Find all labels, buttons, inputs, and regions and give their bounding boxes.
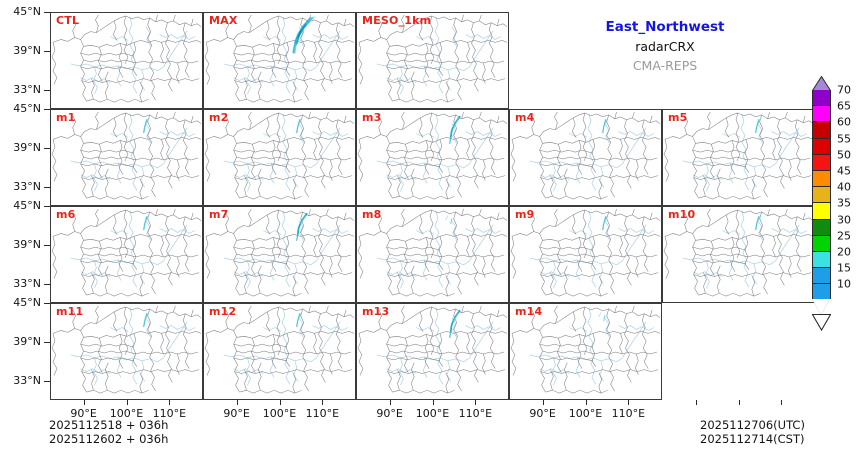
- colorbar-over-arrow: [812, 76, 830, 90]
- x-tick-label: 90°E: [223, 407, 249, 420]
- map-panel-meso_1km[interactable]: MESO_1km: [356, 12, 509, 109]
- colorbar-under-outline: [812, 314, 831, 331]
- colorbar-segment: 10: [813, 284, 830, 299]
- colorbar-over-outline: [812, 76, 831, 91]
- map-geography: [663, 207, 814, 302]
- x-tick-mark: [433, 400, 434, 405]
- y-tick-mark: [44, 381, 50, 382]
- map-panel-m7[interactable]: m7: [203, 206, 356, 303]
- radar-echo: [297, 312, 302, 327]
- panel-label: m10: [668, 209, 695, 221]
- x-tick-mark: [628, 400, 629, 405]
- radar-echo: [603, 118, 608, 133]
- colorbar-tick-label: 15: [837, 262, 851, 275]
- colorbar-segment: 25: [813, 236, 830, 252]
- y-tick-label: 39°N: [13, 141, 41, 154]
- colorbar-segment: 70: [813, 90, 830, 106]
- y-tick-mark: [44, 12, 50, 13]
- x-tick-mark: [280, 400, 281, 405]
- panel-label: MESO_1km: [362, 15, 431, 27]
- y-tick-mark: [44, 90, 50, 91]
- colorbar-segment: 35: [813, 203, 830, 219]
- y-tick-label: 39°N: [13, 238, 41, 251]
- y-tick-mark: [44, 284, 50, 285]
- panel-label: m5: [668, 112, 688, 124]
- panel-label: m1: [56, 112, 76, 124]
- x-tick-mark: [169, 400, 170, 405]
- map-geography: [357, 13, 508, 108]
- x-tick-mark: [390, 400, 391, 405]
- radar-echo: [144, 312, 149, 327]
- colorbar-tick-label: 45: [837, 164, 851, 177]
- panel-label: m13: [362, 306, 389, 318]
- x-tick-label: 110°E: [306, 407, 339, 420]
- init-time-line-2: 2025112602 + 036h: [49, 432, 168, 446]
- map-panel-m10[interactable]: m10: [662, 206, 815, 303]
- x-tick-mark: [739, 400, 740, 405]
- y-tick-label: 45°N: [13, 199, 41, 212]
- radar-echo: [144, 118, 149, 133]
- y-tick-mark: [44, 245, 50, 246]
- colorbar-segment: 60: [813, 122, 830, 138]
- map-geography: [204, 207, 355, 302]
- x-tick-label: 100°E: [416, 407, 449, 420]
- map-geography: [663, 110, 814, 205]
- y-tick-label: 33°N: [13, 277, 41, 290]
- map-panel-m2[interactable]: m2: [203, 109, 356, 206]
- x-tick-mark: [322, 400, 323, 405]
- footer-left: 2025112518 + 036h 2025112602 + 036h: [49, 418, 168, 446]
- colorbar[interactable]: 70656055504540353025201510: [812, 76, 831, 315]
- colorbar-tick-label: 20: [837, 245, 851, 258]
- map-geography: [51, 13, 202, 108]
- map-geography: [204, 110, 355, 205]
- map-geography: [357, 110, 508, 205]
- radar-echo: [297, 118, 302, 133]
- map-panel-m13[interactable]: m13: [356, 303, 509, 400]
- colorbar-under-arrow: [812, 299, 830, 315]
- panel-label: m6: [56, 209, 76, 221]
- valid-time-utc: 2025112706(UTC): [700, 418, 805, 432]
- y-tick-label: 33°N: [13, 374, 41, 387]
- x-tick-label: 90°E: [376, 407, 402, 420]
- y-tick-mark: [44, 51, 50, 52]
- panel-row: CTLMAXMESO_1km: [50, 12, 815, 109]
- y-tick-label: 45°N: [13, 102, 41, 115]
- panel-row: m6m7m8m9m10: [50, 206, 815, 303]
- colorbar-segment: 15: [813, 268, 830, 284]
- x-tick-mark: [475, 400, 476, 405]
- y-tick-label: 33°N: [13, 180, 41, 193]
- radar-echo: [603, 215, 608, 230]
- radar-echo: [756, 215, 761, 230]
- init-time-line-1: 2025112518 + 036h: [49, 418, 168, 432]
- panel-row: m11m12m13m14: [50, 303, 815, 400]
- radar-echo: [446, 216, 452, 224]
- colorbar-segments: 70656055504540353025201510: [812, 90, 831, 299]
- y-tick-mark: [44, 148, 50, 149]
- map-geography: [510, 110, 661, 205]
- radar-echo: [294, 17, 315, 53]
- colorbar-tick-label: 30: [837, 213, 851, 226]
- figure-canvas: East_Northwest radarCRX CMA-REPS CTLMAXM…: [0, 0, 860, 456]
- y-tick-mark: [44, 109, 50, 110]
- y-tick-mark: [44, 342, 50, 343]
- map-geography: [204, 13, 355, 108]
- panel-label: m9: [515, 209, 535, 221]
- y-tick-label: 33°N: [13, 83, 41, 96]
- map-geography: [51, 110, 202, 205]
- y-tick-mark: [44, 187, 50, 188]
- y-tick-label: 45°N: [13, 5, 41, 18]
- x-tick-label: 100°E: [569, 407, 602, 420]
- colorbar-tick-label: 55: [837, 132, 851, 145]
- map-geography: [357, 207, 508, 302]
- map-geography: [510, 304, 661, 399]
- x-tick-mark: [127, 400, 128, 405]
- colorbar-tick-label: 60: [837, 116, 851, 129]
- panel-label: m12: [209, 306, 236, 318]
- y-tick-label: 39°N: [13, 335, 41, 348]
- x-tick-mark: [586, 400, 587, 405]
- x-tick-mark: [696, 400, 697, 405]
- map-panel-m14[interactable]: m14: [509, 303, 662, 400]
- map-panel-m1[interactable]: m1: [50, 109, 203, 206]
- map-panel-m4[interactable]: m4: [509, 109, 662, 206]
- x-tick-mark: [237, 400, 238, 405]
- x-tick-label: 90°E: [529, 407, 555, 420]
- colorbar-segment: 50: [813, 155, 830, 171]
- map-panel-m6[interactable]: m6: [50, 206, 203, 303]
- colorbar-segment: 20: [813, 252, 830, 268]
- x-tick-label: 110°E: [612, 407, 645, 420]
- map-panel-m12[interactable]: m12: [203, 303, 356, 400]
- x-tick-label: 110°E: [459, 407, 492, 420]
- panel-label: m11: [56, 306, 83, 318]
- panel-label: m7: [209, 209, 229, 221]
- panel-label: CTL: [56, 15, 79, 27]
- footer-right: 2025112706(UTC) 2025112714(CST): [700, 418, 805, 446]
- y-tick-label: 45°N: [13, 296, 41, 309]
- colorbar-tick-label: 35: [837, 197, 851, 210]
- map-panel-m3[interactable]: m3: [356, 109, 509, 206]
- colorbar-segment: 45: [813, 171, 830, 187]
- panel-label: m14: [515, 306, 542, 318]
- radar-echo: [144, 215, 149, 230]
- map-geography: [357, 304, 508, 399]
- colorbar-tick-label: 40: [837, 181, 851, 194]
- panel-label: m8: [362, 209, 382, 221]
- x-tick-mark: [781, 400, 782, 405]
- radar-echo: [599, 313, 605, 321]
- colorbar-tick-label: 70: [837, 84, 851, 97]
- radar-echo: [756, 118, 761, 133]
- colorbar-tick-label: 10: [837, 278, 851, 291]
- valid-time-cst: 2025112714(CST): [700, 432, 805, 446]
- map-panel-m8[interactable]: m8: [356, 206, 509, 303]
- y-tick-label: 39°N: [13, 44, 41, 57]
- colorbar-segment: 30: [813, 220, 830, 236]
- x-tick-mark: [543, 400, 544, 405]
- map-panel-m11[interactable]: m11: [50, 303, 203, 400]
- map-panel-max[interactable]: MAX: [203, 12, 356, 109]
- map-geography: [51, 304, 202, 399]
- map-panel-m9[interactable]: m9: [509, 206, 662, 303]
- panel-label: m2: [209, 112, 229, 124]
- map-geography: [510, 207, 661, 302]
- x-tick-label: 100°E: [263, 407, 296, 420]
- y-tick-mark: [44, 206, 50, 207]
- colorbar-segment: 65: [813, 106, 830, 122]
- y-tick-mark: [44, 303, 50, 304]
- map-panel-ctl[interactable]: CTL: [50, 12, 203, 109]
- map-geography: [51, 207, 202, 302]
- panel-label: MAX: [209, 15, 238, 27]
- colorbar-segment: 40: [813, 187, 830, 203]
- colorbar-tick-label: 65: [837, 100, 851, 113]
- map-panel-m5[interactable]: m5: [662, 109, 815, 206]
- colorbar-tick-label: 25: [837, 229, 851, 242]
- panel-label: m3: [362, 112, 382, 124]
- x-tick-mark: [84, 400, 85, 405]
- panel-label: m4: [515, 112, 535, 124]
- panel-row: m1m2m3m4m5: [50, 109, 815, 206]
- colorbar-tick-label: 50: [837, 148, 851, 161]
- colorbar-segment: 55: [813, 139, 830, 155]
- map-geography: [204, 304, 355, 399]
